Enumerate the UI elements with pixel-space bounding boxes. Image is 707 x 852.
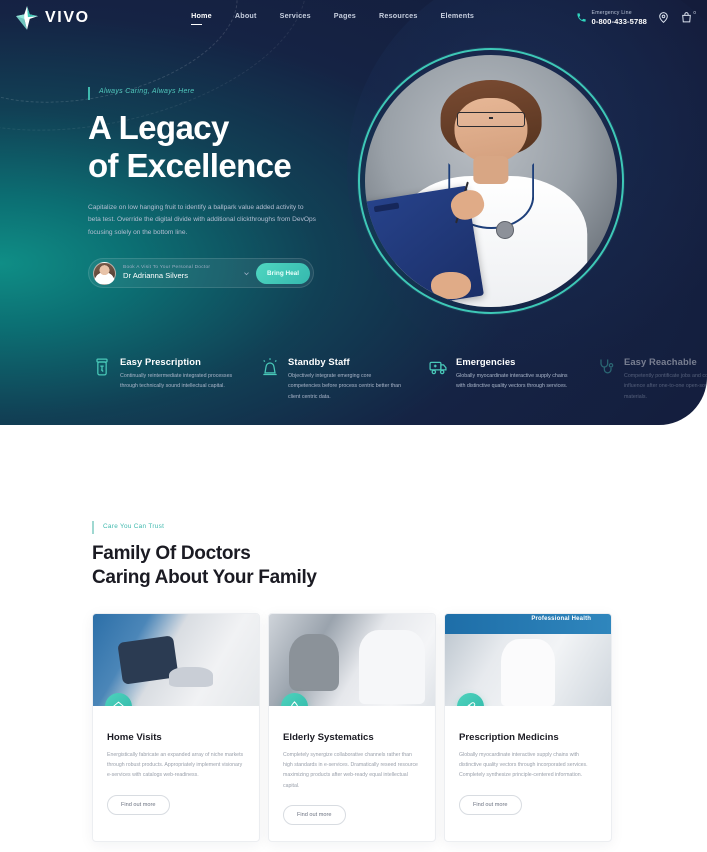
feature-item-emergencies[interactable]: Emergencies Globally myocardinate intera…: [428, 356, 570, 402]
card-title: Home Visits: [107, 732, 245, 743]
phone-icon: [576, 12, 587, 23]
card-description: Completely synergize collaborative chann…: [283, 750, 421, 792]
nav-item-pages[interactable]: Pages: [334, 11, 356, 25]
hero-title-line-2: of Excellence: [88, 147, 340, 185]
find-out-more-button[interactable]: Find out more: [283, 805, 346, 825]
card-body: Prescription Medicins Globally myocardin…: [445, 706, 611, 831]
location-pin-icon[interactable]: [657, 11, 670, 24]
avatar: [93, 262, 116, 285]
home-medical-icon: [105, 693, 132, 706]
card-image: Professional Health: [445, 614, 611, 706]
services-eyebrow: Care You Can Trust: [92, 523, 707, 530]
feature-description: Continually reintermediate integrated pr…: [120, 371, 234, 392]
nav-item-services[interactable]: Services: [280, 11, 311, 25]
hero-title-line-1: A Legacy: [88, 109, 340, 147]
feature-title: Easy Prescription: [120, 356, 234, 367]
chevron-down-icon[interactable]: [243, 270, 250, 277]
card-image-label: Professional Health: [531, 616, 591, 622]
feature-item-easy-reachable[interactable]: Easy Reachable Competently pontificate j…: [596, 356, 707, 402]
card-description: Energistically fabricate an expanded arr…: [107, 750, 245, 781]
water-drop-icon: [281, 693, 308, 706]
feature-item-standby-staff[interactable]: Standby Staff Objectively integrate emer…: [260, 356, 402, 402]
card-image: [93, 614, 259, 706]
feature-description: Globally myocardinate interactive supply…: [456, 371, 570, 392]
card-body: Elderly Systematics Completely synergize…: [269, 706, 435, 842]
feature-title: Emergencies: [456, 356, 570, 367]
booking-widget[interactable]: Book A Visit To Your Personal Doctor Dr …: [88, 258, 314, 288]
card-image: [269, 614, 435, 706]
feature-item-easy-prescription[interactable]: Easy Prescription Continually reintermed…: [92, 356, 234, 402]
alarm-light-icon: [260, 356, 280, 378]
booking-label: Book A Visit To Your Personal Doctor: [123, 265, 243, 271]
services-title-line-2: Caring About Your Family: [92, 566, 707, 590]
find-out-more-button[interactable]: Find out more: [107, 795, 170, 815]
hero-content: Always Caring, Always Here A Legacy of E…: [0, 36, 340, 288]
services-title-line-1: Family Of Doctors: [92, 542, 707, 566]
top-navigation-bar: VIVO Home About Services Pages Resources…: [0, 0, 707, 36]
ambulance-icon: [428, 356, 448, 378]
hero-title: A Legacy of Excellence: [88, 109, 340, 186]
feature-description: Objectively integrate emerging core comp…: [288, 371, 402, 402]
emergency-phone[interactable]: Emergency Line 0-800-433-5788: [576, 10, 647, 26]
prescription-bottle-icon: [92, 356, 112, 378]
services-title: Family Of Doctors Caring About Your Fami…: [92, 542, 707, 591]
topbar-right-group: Emergency Line 0-800-433-5788 0: [576, 10, 695, 26]
doctor-select-value[interactable]: Dr Adrianna Silvers: [123, 272, 243, 281]
pill-capsule-icon: [457, 693, 484, 706]
nav-item-elements[interactable]: Elements: [441, 11, 475, 25]
feature-description: Competently pontificate jobs and cohesiv…: [624, 371, 707, 402]
brand-logo[interactable]: VIVO: [16, 6, 90, 30]
booking-fields: Book A Visit To Your Personal Doctor Dr …: [116, 265, 243, 281]
hero-eyebrow: Always Caring, Always Here: [88, 88, 340, 95]
stethoscope-contact-icon: [596, 356, 616, 378]
star-logo-icon: [16, 6, 38, 30]
main-nav: Home About Services Pages Resources Elem…: [191, 11, 474, 25]
shopping-bag-icon[interactable]: 0: [680, 11, 693, 24]
book-appointment-button[interactable]: Bring Heal: [256, 263, 310, 284]
feature-title: Standby Staff: [288, 356, 402, 367]
nav-item-about[interactable]: About: [235, 11, 257, 25]
card-body: Home Visits Energistically fabricate an …: [93, 706, 259, 831]
doctor-photo-image: [365, 55, 617, 307]
service-card-elderly-systematics[interactable]: Elderly Systematics Completely synergize…: [268, 613, 436, 843]
service-card-prescription-medicins[interactable]: Professional Health Prescription Medicin…: [444, 613, 612, 843]
card-title: Prescription Medicins: [459, 732, 597, 743]
feature-title: Easy Reachable: [624, 356, 707, 367]
hero-description: Capitalize on low hanging fruit to ident…: [88, 202, 316, 241]
hero-section: VIVO Home About Services Pages Resources…: [0, 0, 707, 425]
find-out-more-button[interactable]: Find out more: [459, 795, 522, 815]
service-card-list: Home Visits Energistically fabricate an …: [92, 613, 707, 843]
nav-item-home[interactable]: Home: [191, 11, 212, 25]
card-description: Globally myocardinate interactive supply…: [459, 750, 597, 781]
service-card-home-visits[interactable]: Home Visits Energistically fabricate an …: [92, 613, 260, 843]
brand-name: VIVO: [45, 9, 90, 27]
card-title: Elderly Systematics: [283, 732, 421, 743]
cart-count-badge: 0: [693, 10, 696, 15]
emergency-line-number: 0-800-433-5788: [592, 17, 647, 26]
services-section: Care You Can Trust Family Of Doctors Car…: [0, 425, 707, 842]
doctor-portrait: [358, 48, 624, 314]
nav-item-resources[interactable]: Resources: [379, 11, 418, 25]
hero-feature-list: Easy Prescription Continually reintermed…: [92, 356, 707, 402]
